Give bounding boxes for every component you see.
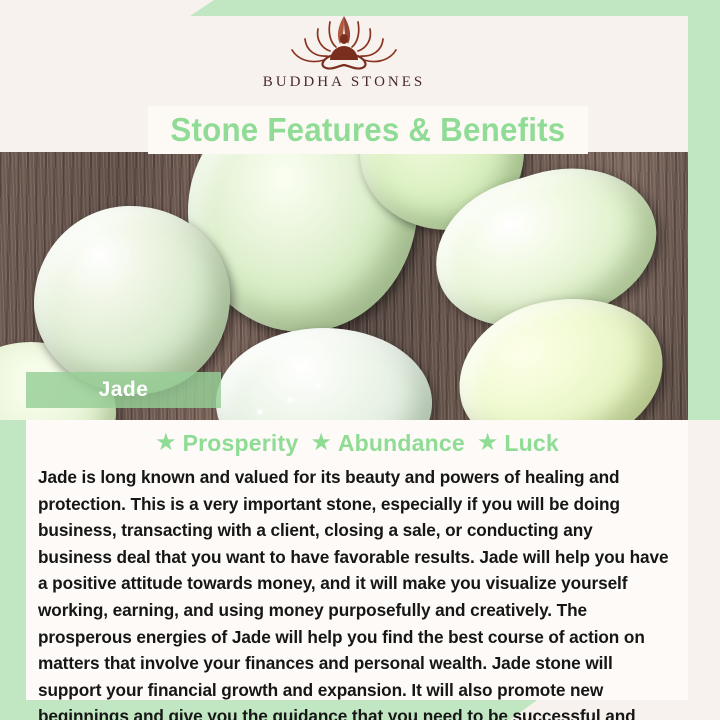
infographic-page: BUDDHA STONES Stone Features & Benefits …	[0, 0, 720, 720]
lotus-meditation-icon	[278, 10, 410, 72]
brand-logo: BUDDHA STONES	[0, 10, 688, 106]
stone-name-badge: Jade	[26, 372, 221, 408]
left-accent-band	[0, 400, 26, 720]
content-panel: ★ Prosperity ★ Abundance ★ Luck Jade is …	[26, 420, 688, 700]
sparkle-highlight	[316, 384, 320, 388]
page-title: Stone Features & Benefits	[171, 111, 566, 149]
right-accent-band	[688, 0, 720, 420]
benefit-item: ★ Luck	[477, 430, 559, 457]
star-icon: ★	[310, 431, 332, 455]
benefit-label: Prosperity	[183, 430, 299, 457]
stone-description: Jade is long known and valued for its be…	[38, 464, 670, 720]
sparkle-highlight	[288, 398, 292, 402]
sparkle-highlight	[258, 410, 262, 414]
stone-name-label: Jade	[99, 378, 149, 402]
benefit-label: Abundance	[338, 430, 465, 457]
title-banner: Stone Features & Benefits	[148, 106, 588, 154]
benefit-item: ★ Abundance	[310, 430, 465, 457]
star-icon: ★	[155, 431, 177, 455]
benefit-label: Luck	[504, 430, 558, 457]
star-icon: ★	[477, 431, 499, 455]
benefit-item: ★ Prosperity	[155, 430, 298, 457]
brand-wordmark: BUDDHA STONES	[263, 74, 426, 91]
jade-stone	[34, 206, 230, 394]
benefits-row: ★ Prosperity ★ Abundance ★ Luck	[26, 420, 688, 460]
